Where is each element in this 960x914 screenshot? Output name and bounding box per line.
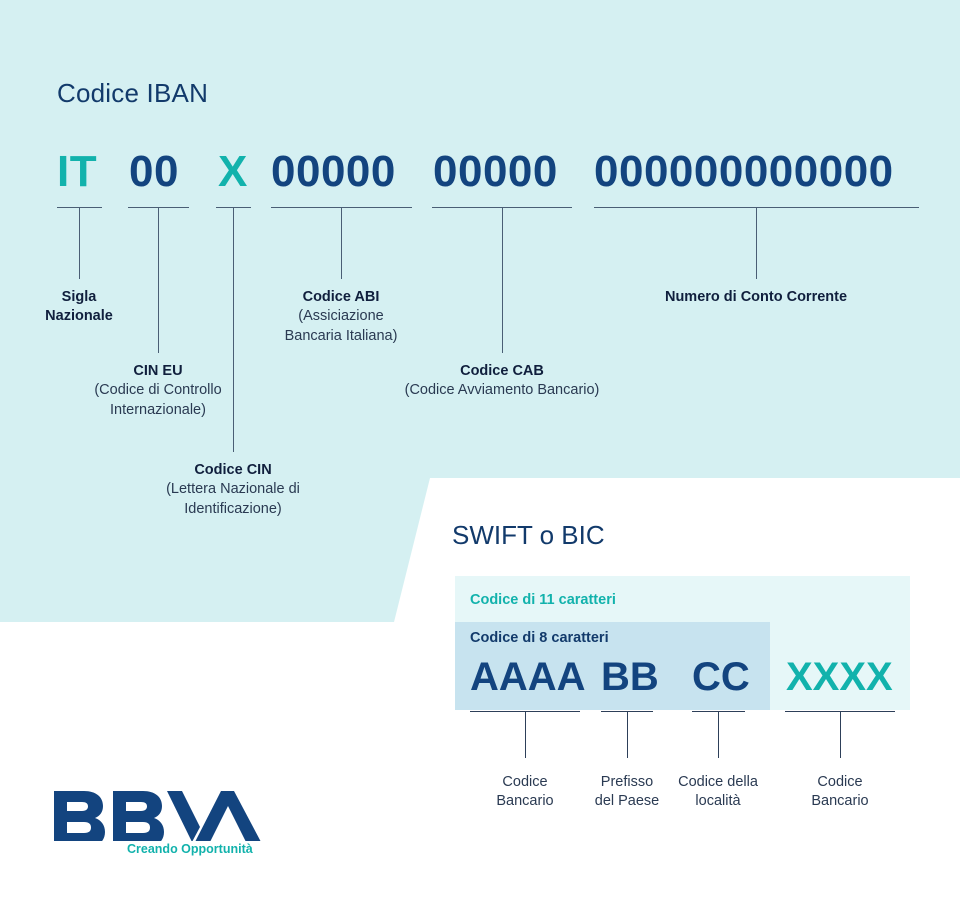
swift-label-branch-code-line2: Bancario [770, 792, 910, 811]
label-cin-eu-sub1: (Codice di Controllo [58, 381, 258, 400]
iban-group-country: IT [57, 146, 97, 198]
iban-group-cin: X [218, 146, 248, 198]
label-sigla-nazionale-line1: Sigla [14, 288, 144, 307]
leader-drop-account [756, 207, 757, 279]
leader-drop-abi [341, 207, 342, 279]
leader-drop-cin-eu [158, 207, 159, 353]
bbva-logo: Creando Opportunità [52, 789, 267, 841]
label-codice-cin-sub1: (Lettera Nazionale di [133, 480, 333, 499]
label-codice-cab: Codice CAB (Codice Avviamento Bancario) [382, 362, 622, 401]
label-codice-abi: Codice ABI (Assiciazione Bancaria Italia… [241, 288, 441, 346]
swift-section-title: SWIFT o BIC [452, 520, 605, 551]
label-cin-eu-title: CIN EU [58, 362, 258, 381]
label-sigla-nazionale-line2: Nazionale [14, 307, 144, 326]
swift-group-country-code: BB [601, 654, 659, 700]
swift-label-location-code: Codice della località [659, 773, 777, 812]
leader-drop-country [79, 207, 80, 279]
label-codice-abi-sub1: (Assiciazione [241, 307, 441, 326]
swift-leader-drop-1 [525, 711, 526, 758]
label-codice-cab-sub1: (Codice Avviamento Bancario) [382, 381, 622, 400]
label-codice-cin-sub2: Identificazione) [133, 500, 333, 519]
swift-label-location-code-line2: località [659, 792, 777, 811]
leader-drop-cab [502, 207, 503, 353]
label-numero-conto: Numero di Conto Corrente [626, 288, 886, 307]
swift-label-location-code-line1: Codice della [659, 773, 777, 792]
swift-group-branch-code: XXXX [786, 654, 893, 700]
iban-code-row: IT 00 X 00000 00000 000000000000 [0, 146, 960, 198]
label-codice-abi-title: Codice ABI [241, 288, 441, 307]
label-codice-cab-title: Codice CAB [382, 362, 622, 381]
swift-label-branch-code-line1: Codice [770, 773, 910, 792]
infographic-canvas: Codice IBAN IT 00 X 00000 00000 00000000… [0, 0, 960, 914]
iban-group-cab: 00000 [433, 146, 558, 198]
bbva-tagline: Creando Opportunità [127, 842, 253, 856]
swift-label-branch-code: Codice Bancario [770, 773, 910, 812]
swift-leader-drop-2 [627, 711, 628, 758]
iban-section-title: Codice IBAN [57, 78, 208, 109]
label-cin-eu-sub2: Internazionale) [58, 401, 258, 420]
swift-caption-8: Codice di 8 caratteri [470, 630, 609, 646]
swift-caption-11: Codice di 11 caratteri [470, 592, 616, 608]
bbva-wordmark-icon [52, 789, 267, 841]
iban-group-abi: 00000 [271, 146, 396, 198]
iban-group-cin-eu: 00 [129, 146, 179, 198]
swift-group-location-code: CC [692, 654, 750, 700]
label-numero-conto-title: Numero di Conto Corrente [626, 288, 886, 307]
label-cin-eu: CIN EU (Codice di Controllo Internaziona… [58, 362, 258, 420]
swift-group-bank-code: AAAA [470, 654, 586, 700]
label-codice-cin-title: Codice CIN [133, 461, 333, 480]
label-codice-cin: Codice CIN (Lettera Nazionale di Identif… [133, 461, 333, 519]
iban-group-account: 000000000000 [594, 146, 894, 198]
label-sigla-nazionale: Sigla Nazionale [14, 288, 144, 327]
swift-leader-drop-4 [840, 711, 841, 758]
swift-leader-drop-3 [718, 711, 719, 758]
label-codice-abi-sub2: Bancaria Italiana) [241, 327, 441, 346]
